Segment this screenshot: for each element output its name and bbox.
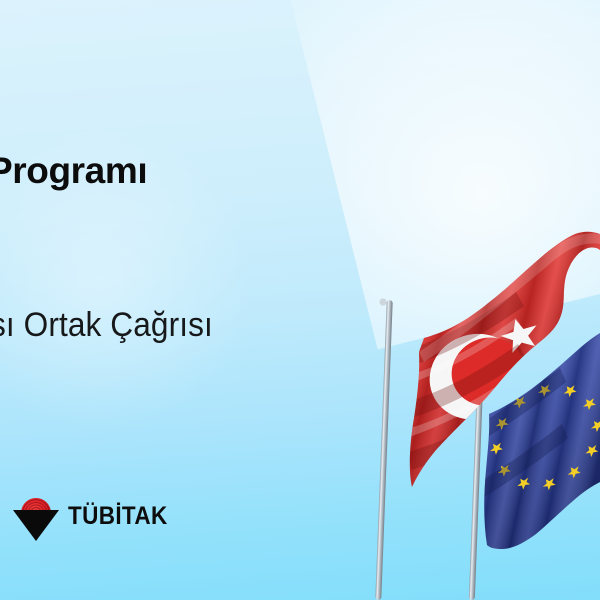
turkey-flag [400, 225, 600, 500]
crescent-emblem [417, 319, 538, 434]
flag-poles [375, 298, 483, 600]
european-union-flag [468, 320, 600, 560]
tubitak-wordmark: TÜBİTAK [68, 504, 168, 529]
headline-text: Programı [0, 152, 147, 189]
star-emblem [497, 314, 541, 355]
promo-banner: Programı sı Ortak Çağrısı [0, 0, 600, 600]
subheadline-text: sı Ortak Çağrısı [0, 308, 213, 342]
tubitak-logo-mark-icon [10, 496, 62, 542]
corner-glow-decoration [276, 0, 600, 349]
tubitak-logo: TÜBİTAK [10, 496, 160, 544]
